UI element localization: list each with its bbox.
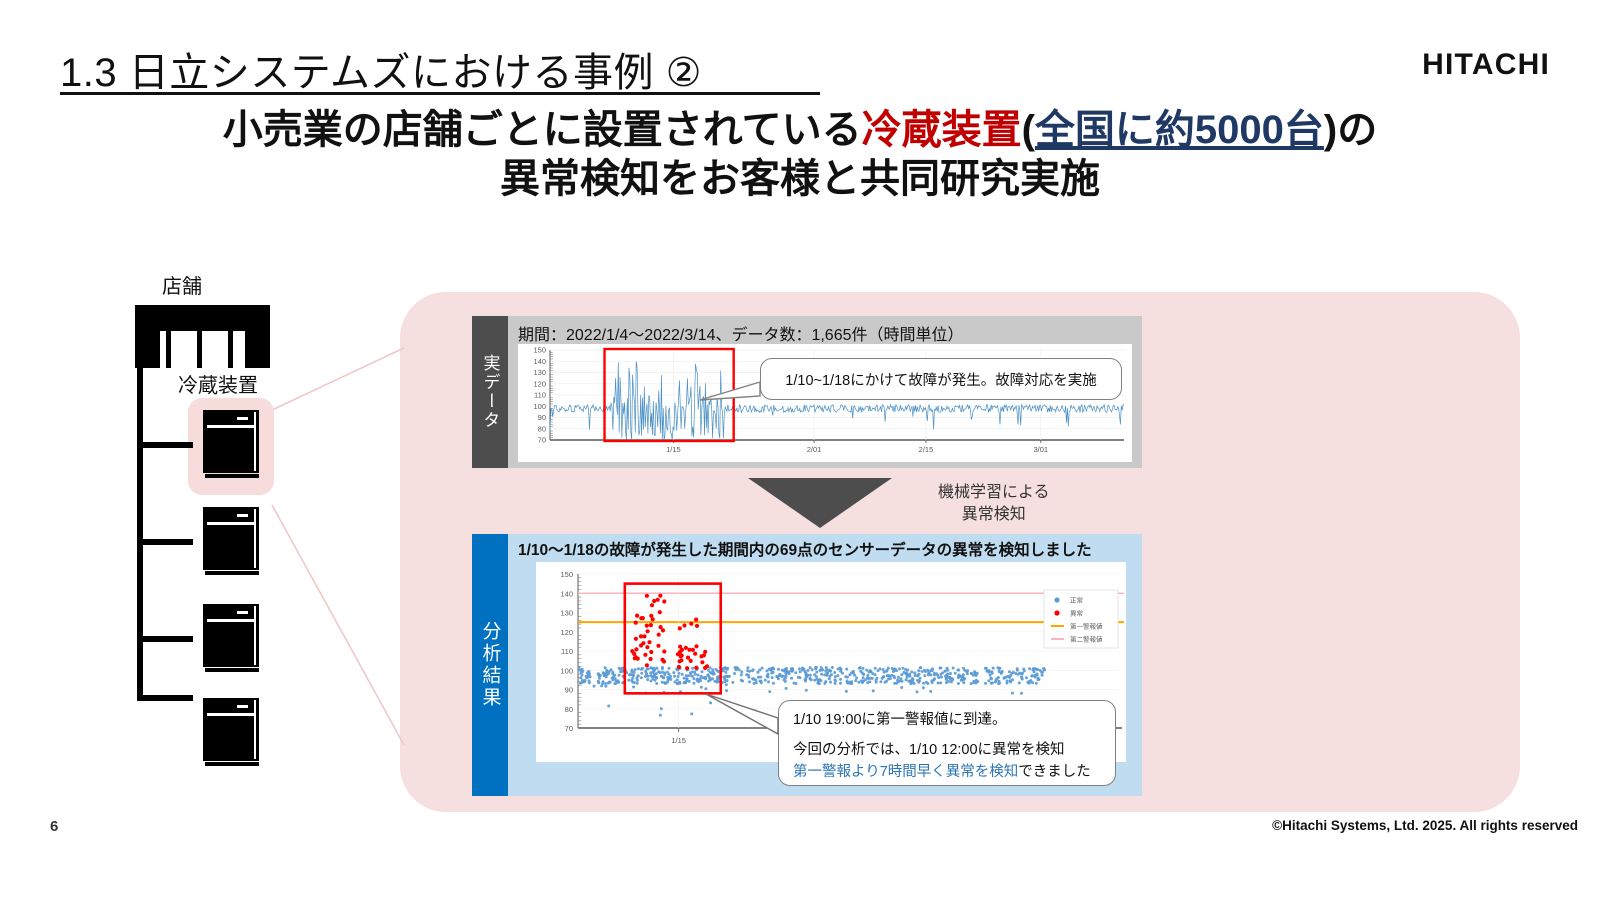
svg-text:1/15: 1/15 bbox=[671, 736, 686, 745]
svg-text:70: 70 bbox=[538, 436, 546, 445]
svg-text:異常: 異常 bbox=[1070, 609, 1083, 618]
subtitle: 小売業の店舗ごとに設置されている冷蔵装置(全国に約5000台)の 異常検知をお客… bbox=[0, 106, 1600, 204]
arrow-label-line-2: 異常検知 bbox=[938, 504, 1050, 526]
subtitle-paren-close: )の bbox=[1324, 108, 1377, 152]
analysis-callout-line-3-black: できました bbox=[1018, 764, 1091, 780]
svg-text:3/01: 3/01 bbox=[1033, 445, 1048, 454]
fridge-icon bbox=[203, 410, 259, 478]
svg-text:80: 80 bbox=[538, 424, 546, 433]
title-underline bbox=[60, 92, 820, 95]
arrow-label-line-1: 機械学習による bbox=[938, 482, 1050, 504]
svg-text:140: 140 bbox=[533, 357, 546, 366]
svg-text:正常: 正常 bbox=[1070, 596, 1083, 605]
network-trunk-line bbox=[137, 366, 143, 698]
svg-text:130: 130 bbox=[560, 609, 573, 618]
real-data-callout: 1/10~1/18にかけて故障が発生。故障対応を実施 bbox=[760, 358, 1122, 400]
svg-text:120: 120 bbox=[533, 379, 546, 388]
subtitle-plain-a: 小売業の店舗ごとに設置されている bbox=[223, 108, 862, 152]
svg-text:1/15: 1/15 bbox=[666, 445, 681, 454]
svg-text:80: 80 bbox=[565, 705, 573, 714]
page-title: 1.3 日立システムズにおける事例 ② bbox=[60, 40, 702, 98]
subtitle-paren-open: ( bbox=[1022, 108, 1035, 152]
store-label: 店舗 bbox=[162, 270, 202, 299]
store-icon bbox=[135, 305, 270, 368]
copyright-notice: ©Hitachi Systems, Ltd. 2025. All rights … bbox=[1272, 818, 1578, 833]
svg-text:第二警報値: 第二警報値 bbox=[1070, 635, 1103, 644]
arrow-label: 機械学習による 異常検知 bbox=[938, 482, 1050, 525]
hitachi-logo: HITACHI bbox=[1422, 48, 1550, 82]
analysis-result-header-text: 1/10〜1/18の故障が発生した期間内の69点のセンサーデータの異常を検知しま… bbox=[518, 538, 1092, 560]
analysis-callout-line-1: 1/10 19:00に第一警報値に到達。 bbox=[793, 710, 1101, 732]
svg-text:90: 90 bbox=[538, 413, 546, 422]
fridge-icon bbox=[203, 507, 259, 575]
svg-text:150: 150 bbox=[560, 570, 573, 579]
svg-text:110: 110 bbox=[561, 647, 573, 656]
slide-root: 1.3 日立システムズにおける事例 ② HITACHI 小売業の店舗ごとに設置さ… bbox=[0, 0, 1600, 898]
store-diagram: 店舗 冷蔵装置 bbox=[110, 270, 430, 810]
svg-text:120: 120 bbox=[560, 628, 573, 637]
svg-text:2/01: 2/01 bbox=[807, 445, 822, 454]
analysis-result-side-label: 分析結果 bbox=[472, 534, 508, 796]
svg-text:130: 130 bbox=[533, 368, 546, 377]
branch-line-2 bbox=[137, 539, 193, 545]
svg-text:100: 100 bbox=[560, 666, 573, 675]
fridge-icon bbox=[203, 604, 259, 672]
analysis-callout: 1/10 19:00に第一警報値に到達。 今回の分析では、1/10 12:00に… bbox=[778, 700, 1116, 786]
page-number: 6 bbox=[50, 818, 58, 835]
svg-text:140: 140 bbox=[560, 589, 573, 598]
subtitle-highlight-red: 冷蔵装置 bbox=[862, 108, 1022, 152]
subtitle-line-1: 小売業の店舗ごとに設置されている冷蔵装置(全国に約5000台)の bbox=[0, 106, 1600, 155]
svg-text:2/15: 2/15 bbox=[919, 445, 934, 454]
svg-text:100: 100 bbox=[533, 402, 546, 411]
svg-text:70: 70 bbox=[565, 724, 573, 733]
branch-line-1 bbox=[137, 442, 193, 448]
process-arrow-icon bbox=[748, 478, 892, 528]
subtitle-highlight-navy: 全国に約5000台 bbox=[1035, 108, 1324, 152]
analysis-callout-line-3-blue: 第一警報より7時間早く異常を検知 bbox=[793, 764, 1018, 780]
analysis-callout-line-2: 今回の分析では、1/10 12:00に異常を検知 bbox=[793, 740, 1101, 762]
subtitle-line-2: 異常検知をお客様と共同研究実施 bbox=[0, 155, 1600, 204]
branch-line-3 bbox=[137, 636, 193, 642]
real-data-header-text: 期間：2022/1/4～2022/3/14、データ数：1,665件（時間単位） bbox=[518, 321, 964, 345]
fridge-icon bbox=[203, 698, 259, 766]
branch-line-4 bbox=[137, 695, 193, 701]
svg-text:90: 90 bbox=[565, 686, 573, 695]
real-data-side-label: 実データ bbox=[472, 316, 508, 468]
svg-text:第一警報値: 第一警報値 bbox=[1070, 622, 1103, 631]
svg-text:150: 150 bbox=[533, 346, 546, 355]
fridge-label: 冷蔵装置 bbox=[178, 369, 258, 398]
analysis-callout-line-3: 第一警報より7時間早く異常を検知できました bbox=[793, 762, 1101, 784]
svg-text:110: 110 bbox=[534, 391, 546, 400]
real-data-callout-text: 1/10~1/18にかけて故障が発生。故障対応を実施 bbox=[785, 369, 1096, 390]
